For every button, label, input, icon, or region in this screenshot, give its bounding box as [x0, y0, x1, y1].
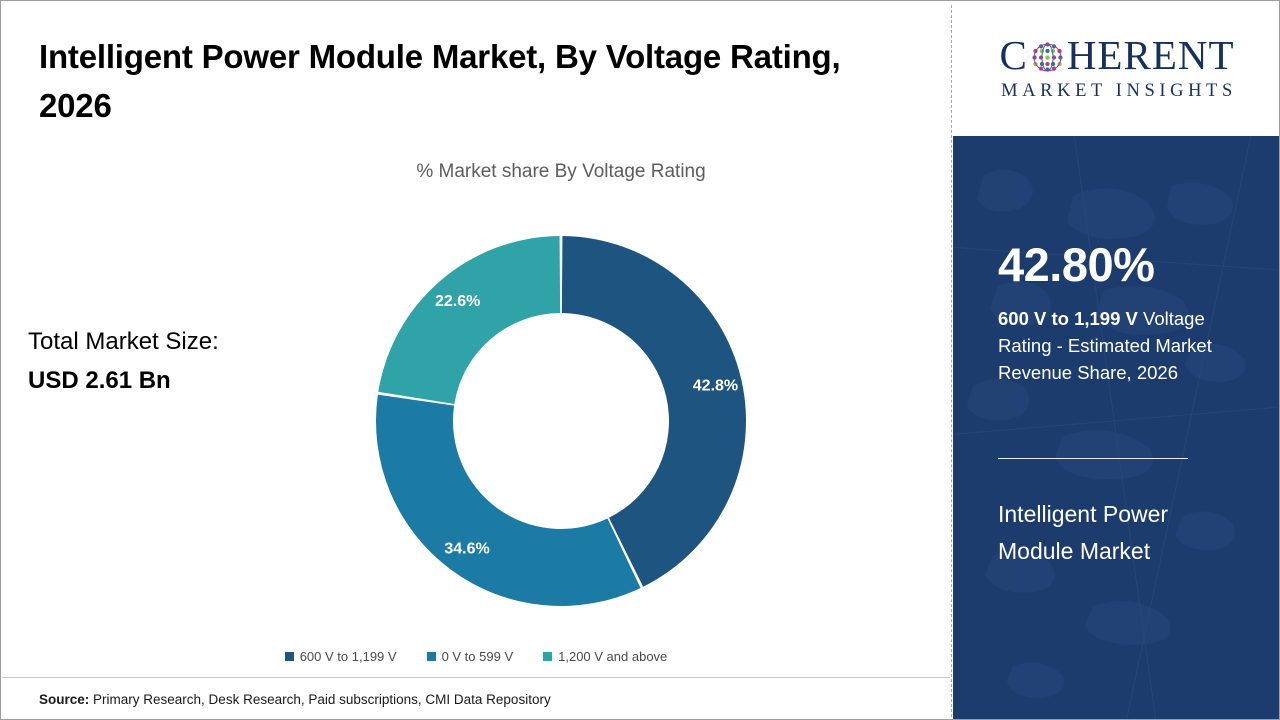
headline-stat-segment: 600 V to 1,199 V	[998, 308, 1138, 329]
market-name: Intelligent Power Module Market	[998, 496, 1248, 571]
donut-chart: 42.8%34.6%22.6%	[373, 233, 749, 609]
total-market-size-value: USD 2.61 Bn	[28, 362, 328, 401]
logo-wordmark: C	[999, 35, 1234, 76]
legend-item[interactable]: 0 V to 599 V	[427, 649, 514, 664]
chart-subtitle: % Market share By Voltage Rating	[181, 161, 941, 183]
infographic-page: Intelligent Power Module Market, By Volt…	[0, 0, 1280, 720]
legend-swatch	[427, 652, 436, 661]
legend-label: 600 V to 1,199 V	[300, 649, 397, 664]
vertical-dashed-divider	[951, 5, 952, 717]
chart-legend: 600 V to 1,199 V0 V to 599 V1,200 V and …	[1, 649, 951, 664]
donut-slice-label: 34.6%	[444, 541, 489, 558]
source-label: Source:	[39, 692, 89, 707]
legend-swatch	[543, 652, 552, 661]
donut-chart-svg: 42.8%34.6%22.6%	[373, 233, 749, 609]
donut-slice-label: 42.8%	[693, 377, 738, 394]
logo-tagline: MARKET INSIGHTS	[997, 81, 1237, 102]
total-market-size-label: Total Market Size:	[28, 323, 328, 362]
legend-swatch	[285, 652, 294, 661]
legend-item[interactable]: 1,200 V and above	[543, 649, 667, 664]
headline-stat-description: 600 V to 1,199 V Voltage Rating - Estima…	[998, 305, 1260, 387]
donut-slice-label: 22.6%	[435, 293, 480, 310]
page-title: Intelligent Power Module Market, By Volt…	[39, 33, 879, 131]
logo-wordmark-rest: HERENT	[1067, 35, 1235, 76]
donut-slice	[378, 236, 560, 404]
legend-label: 1,200 V and above	[558, 649, 667, 664]
chart-pane: Intelligent Power Module Market, By Volt…	[1, 1, 951, 720]
headline-stat: 42.80%	[998, 241, 1154, 288]
total-market-size: Total Market Size: USD 2.61 Bn	[28, 323, 328, 401]
brand-panel-content: 42.80% 600 V to 1,199 V Voltage Rating -…	[998, 136, 1266, 720]
source-text: Primary Research, Desk Research, Paid su…	[93, 692, 551, 707]
logo-letter-c: C	[999, 35, 1027, 76]
legend-label: 0 V to 599 V	[442, 649, 514, 664]
brand-highlight-panel: 42.80% 600 V to 1,199 V Voltage Rating -…	[953, 136, 1280, 720]
donut-slices	[376, 236, 746, 606]
donut-slice	[376, 395, 641, 606]
brand-pane: C	[953, 1, 1280, 720]
source-divider	[2, 677, 950, 678]
globe-icon	[1029, 39, 1066, 76]
legend-item[interactable]: 600 V to 1,199 V	[285, 649, 397, 664]
brand-divider	[998, 458, 1188, 459]
coherent-market-insights-logo: C	[953, 1, 1280, 136]
source-note: Source: Primary Research, Desk Research,…	[39, 692, 551, 707]
